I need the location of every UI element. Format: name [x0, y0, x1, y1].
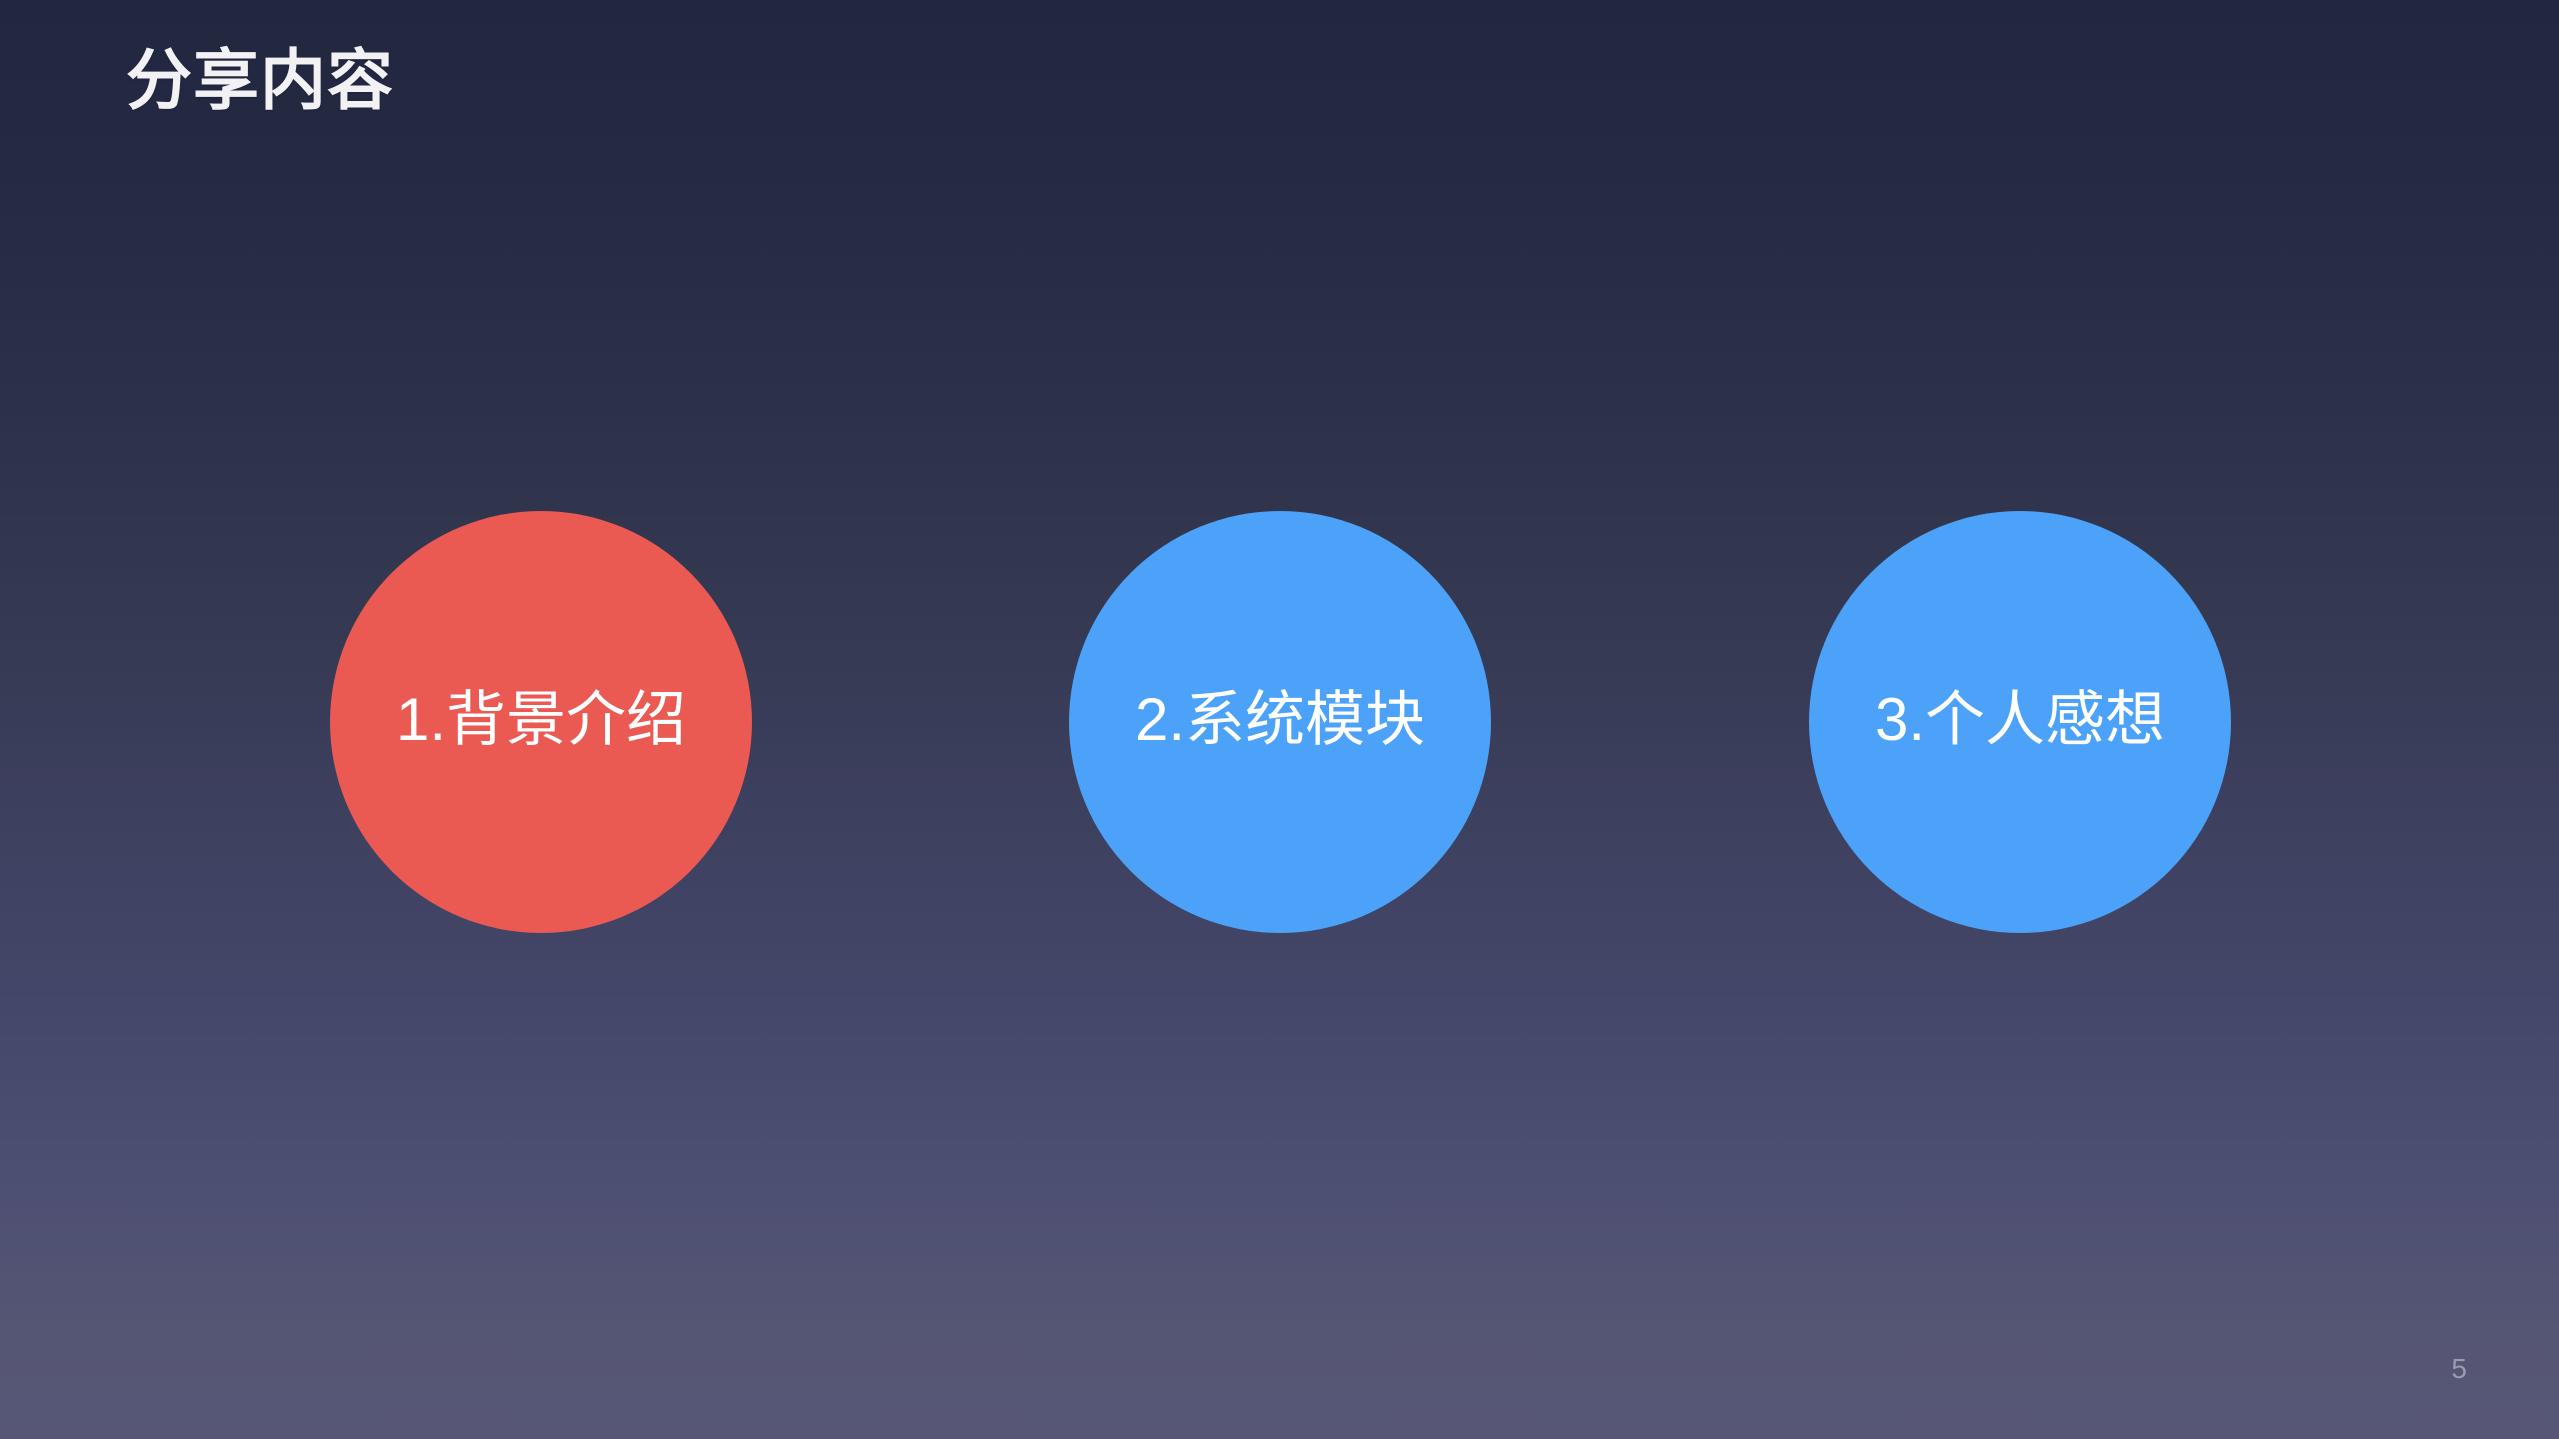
agenda-item-label: 3.个人感想 [1875, 690, 2165, 750]
agenda-item-label: 2.系统模块 [1135, 690, 1425, 750]
agenda-circle-row: 1.背景介绍 2.系统模块 3.个人感想 [0, 511, 2559, 933]
agenda-item-label: 1.背景介绍 [396, 690, 686, 750]
agenda-item-system-modules[interactable]: 2.系统模块 [1069, 511, 1491, 933]
page-title: 分享内容 [126, 44, 394, 118]
agenda-item-background-introduction[interactable]: 1.背景介绍 [330, 511, 752, 933]
agenda-item-personal-thoughts[interactable]: 3.个人感想 [1809, 511, 2231, 933]
page-number: 5 [2451, 1355, 2467, 1383]
presentation-slide: 分享内容 1.背景介绍 2.系统模块 3.个人感想 5 [0, 0, 2559, 1439]
